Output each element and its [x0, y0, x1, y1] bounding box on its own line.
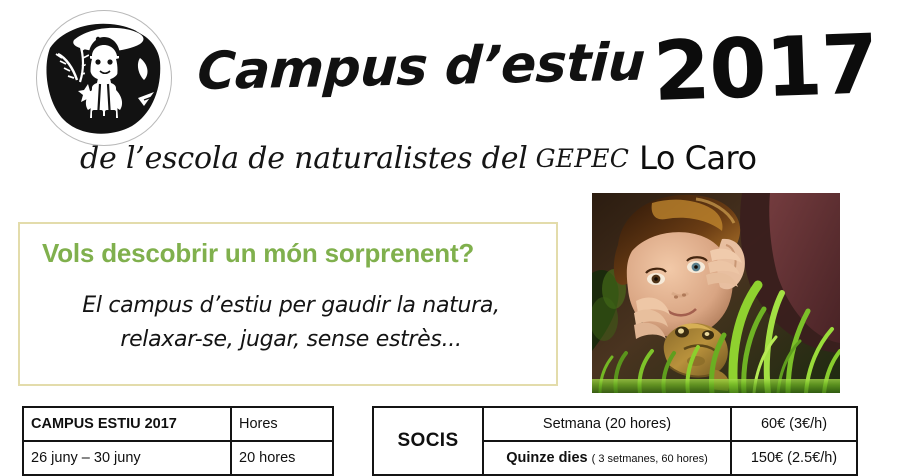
- logo-disc: [40, 14, 168, 142]
- photo-illustration: [592, 193, 840, 393]
- logo-illustration-icon: [40, 14, 168, 142]
- callout-box: Vols descobrir un món sorprenent? El cam…: [18, 222, 558, 386]
- boy-with-frog-photo: [592, 193, 840, 393]
- price-option-setmana: Setmana (20 hores): [483, 407, 731, 441]
- price-table: SOCIS Setmana (20 hores) 60€ (3€/h) Quin…: [372, 406, 858, 476]
- page-subtitle: de l’escola de naturalistes del GEPEC Lo…: [80, 132, 900, 184]
- subtitle-lead: de l’escola de naturalistes del: [80, 141, 528, 176]
- poster-page: Campus d’estiu 2017 de l’escola de natur…: [0, 0, 900, 470]
- title-year: 2017: [651, 17, 878, 120]
- page-title: Campus d’estiu 2017: [196, 22, 879, 122]
- price-option-quinze-dies-label: Quinze dies: [506, 450, 587, 466]
- callout-body: El campus d’estiu per gaudir la natura, …: [42, 289, 540, 357]
- subtitle-org-acronym: GEPEC: [536, 144, 629, 173]
- schedule-header-hours: Hores: [231, 407, 333, 441]
- table-header-row: CAMPUS ESTIU 2017 Hores: [23, 407, 333, 441]
- callout-heading: Vols descobrir un món sorprenent?: [42, 238, 540, 269]
- price-value-setmana: 60€ (3€/h): [731, 407, 857, 441]
- table-row: SOCIS Setmana (20 hores) 60€ (3€/h): [373, 407, 857, 441]
- subtitle-org-name: Lo Caro: [639, 139, 757, 177]
- callout-line-1: El campus d’estiu per gaudir la natura,: [42, 289, 540, 323]
- schedule-header-campus: CAMPUS ESTIU 2017: [23, 407, 231, 441]
- schedule-table: CAMPUS ESTIU 2017 Hores 26 juny – 30 jun…: [22, 406, 334, 476]
- title-words: Campus d’estiu: [196, 33, 646, 102]
- price-group-label: SOCIS: [373, 407, 483, 475]
- callout-line-2: relaxar-se, jugar, sense estrès...: [42, 323, 540, 357]
- price-option-quinze-dies-note: ( 3 setmanes, 60 hores): [592, 453, 708, 465]
